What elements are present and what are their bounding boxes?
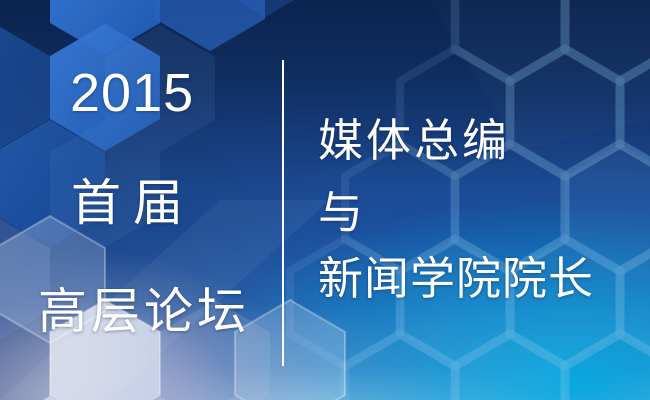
conjunction-label: 与 xyxy=(318,190,363,235)
participant-group-one-label: 媒体总编 xyxy=(318,118,510,163)
right-text-column: 媒体总编 与 新闻学院院长 xyxy=(310,0,650,400)
participant-group-two-label: 新闻学院院长 xyxy=(318,256,594,301)
edition-label: 首届 xyxy=(71,178,195,228)
event-banner: 2015 首届 高层论坛 媒体总编 与 新闻学院院长 xyxy=(0,0,650,400)
left-text-column: 2015 首届 高层论坛 xyxy=(0,0,270,400)
vertical-divider xyxy=(282,60,284,366)
forum-name-label: 高层论坛 xyxy=(38,288,250,337)
year-label: 2015 xyxy=(70,66,194,120)
